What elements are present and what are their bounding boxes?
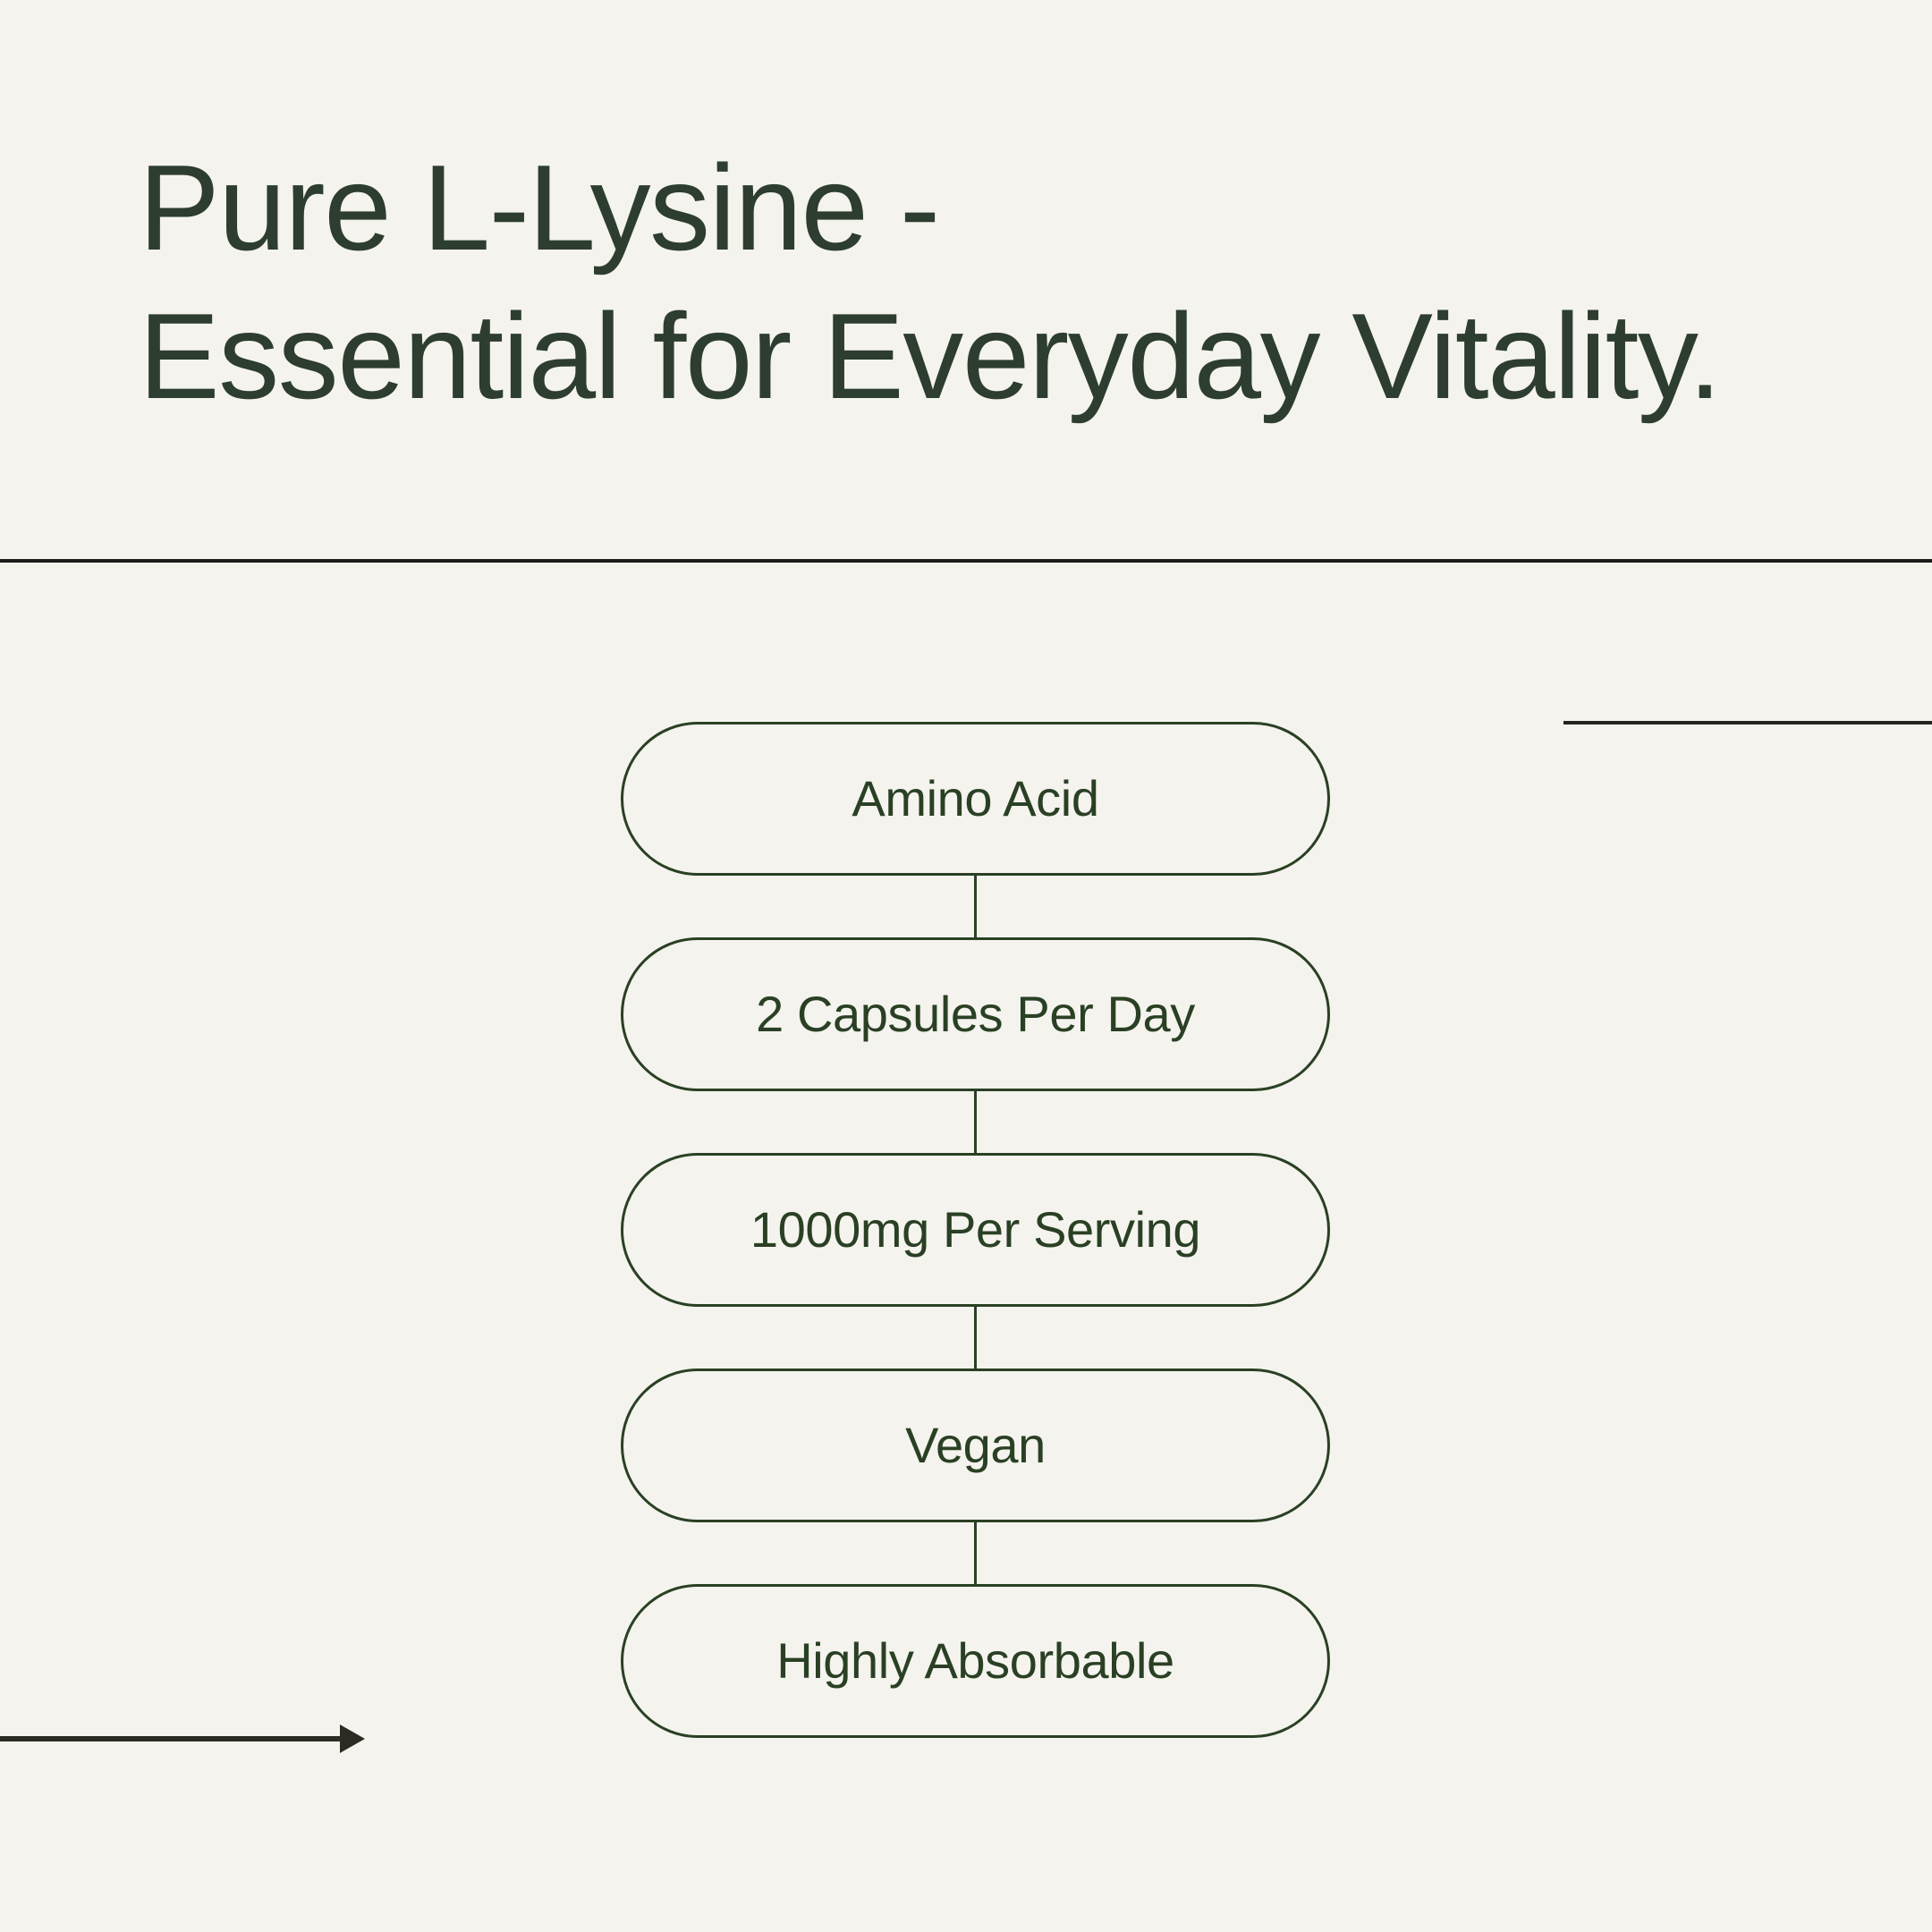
flow-pill-label: Vegan: [905, 1420, 1046, 1470]
flow-connector: [974, 1307, 977, 1368]
arrow-shaft: [0, 1736, 345, 1741]
arrow-head: [340, 1724, 365, 1753]
flow-pill-label: Highly Absorbable: [776, 1636, 1174, 1686]
page-title: Pure L-Lysine - Essential for Everyday V…: [139, 134, 1865, 431]
flow-connector: [974, 1091, 977, 1153]
flow-pill-vegan[interactable]: Vegan: [621, 1368, 1330, 1522]
flow-pill-label: 1000mg Per Serving: [750, 1205, 1200, 1255]
flow-pill-capsules-per-day[interactable]: 2 Capsules Per Day: [621, 937, 1330, 1091]
header-section: Pure L-Lysine - Essential for Everyday V…: [0, 0, 1932, 561]
right-accent-line: [1563, 721, 1932, 724]
flow-pill-amino-acid[interactable]: Amino Acid: [621, 722, 1330, 876]
header-divider: [0, 559, 1932, 563]
flow-connector: [974, 1522, 977, 1584]
flow-pill-label: 2 Capsules Per Day: [756, 989, 1195, 1039]
flow-pill-highly-absorbable[interactable]: Highly Absorbable: [621, 1584, 1330, 1738]
right-pointing-arrow-icon: [0, 1724, 367, 1753]
flow-pill-mg-per-serving[interactable]: 1000mg Per Serving: [621, 1153, 1330, 1307]
flow-connector: [974, 876, 977, 937]
feature-flow-chart: Amino Acid 2 Capsules Per Day 1000mg Per…: [621, 722, 1330, 1738]
poster-canvas: Pure L-Lysine - Essential for Everyday V…: [0, 0, 1932, 1932]
flow-pill-label: Amino Acid: [852, 774, 1098, 824]
